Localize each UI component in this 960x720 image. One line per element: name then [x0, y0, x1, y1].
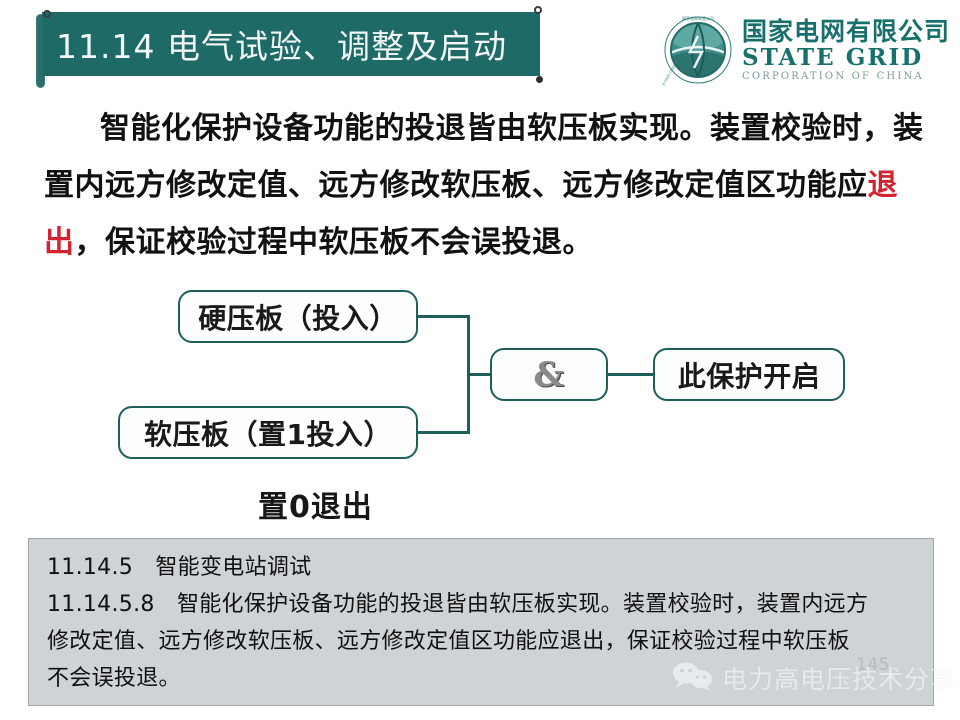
- slide-title-banner: 11.14 电气试验、调整及启动: [42, 12, 540, 76]
- quote-line-1: 11.14.5 智能变电站调试: [47, 549, 915, 586]
- shape-handle-bottom-right[interactable]: [536, 76, 543, 83]
- logo-company-name-en: STATE GRID: [742, 46, 950, 69]
- wechat-watermark: 电力高电压技术分享: [672, 660, 956, 696]
- connector-soft-to-bus: [418, 431, 470, 434]
- diagram-node-protection-enabled: 此保护开启: [653, 348, 845, 401]
- diagram-node-and-gate: &: [490, 348, 608, 401]
- shape-handle-top-right[interactable]: [534, 6, 542, 14]
- quote-line-2: 11.14.5.8 智能化保护设备功能的投退皆由软压板实现。装置校验时，装置内远…: [47, 586, 915, 623]
- shape-handle-top-left[interactable]: [43, 10, 51, 18]
- body-paragraph: 智能化保护设备功能的投退皆由软压板实现。装置校验时，装置内远方修改定值、远方修改…: [44, 100, 924, 271]
- connector-and-to-open: [606, 373, 656, 376]
- svg-text:国家电网有限公司: 国家电网有限公司: [682, 15, 714, 21]
- wechat-icon: [672, 661, 714, 695]
- diagram-node-soft-pressplate: 软压板（置1投入）: [118, 406, 418, 459]
- connector-vertical-bus: [467, 315, 470, 434]
- logo-company-name-cn: 国家电网有限公司: [742, 19, 950, 44]
- body-text-part1: 智能化保护设备功能的投退皆由软压板实现。装置校验时，装置内远方修改定值、远方修改…: [44, 111, 924, 203]
- state-grid-globe-icon: 国家电网有限公司 STATE GRID CORPORATION: [662, 14, 734, 86]
- connector-bus-to-and: [467, 373, 493, 376]
- quote-line-3: 修改定值、远方修改软压板、远方修改定值区功能应退出，保证校验过程中软压板: [47, 623, 915, 660]
- diagram-node-hard-pressplate: 硬压板（投入）: [178, 290, 418, 343]
- page-title: 11.14 电气试验、调整及启动: [56, 20, 507, 68]
- connector-hard-to-bus: [418, 315, 470, 318]
- body-text-part2: ，保证校验过程中软压板不会误投退。: [75, 225, 594, 260]
- watermark-text: 电力高电压技术分享: [722, 660, 956, 696]
- logo-company-subtitle: CORPORATION OF CHINA: [742, 72, 950, 82]
- state-grid-logo: 国家电网有限公司 STATE GRID CORPORATION 国家电网有限公司…: [662, 12, 948, 88]
- diagram-label-set-zero-exit: 置0退出: [258, 482, 373, 526]
- logo-text-block: 国家电网有限公司 STATE GRID CORPORATION OF CHINA: [742, 19, 950, 82]
